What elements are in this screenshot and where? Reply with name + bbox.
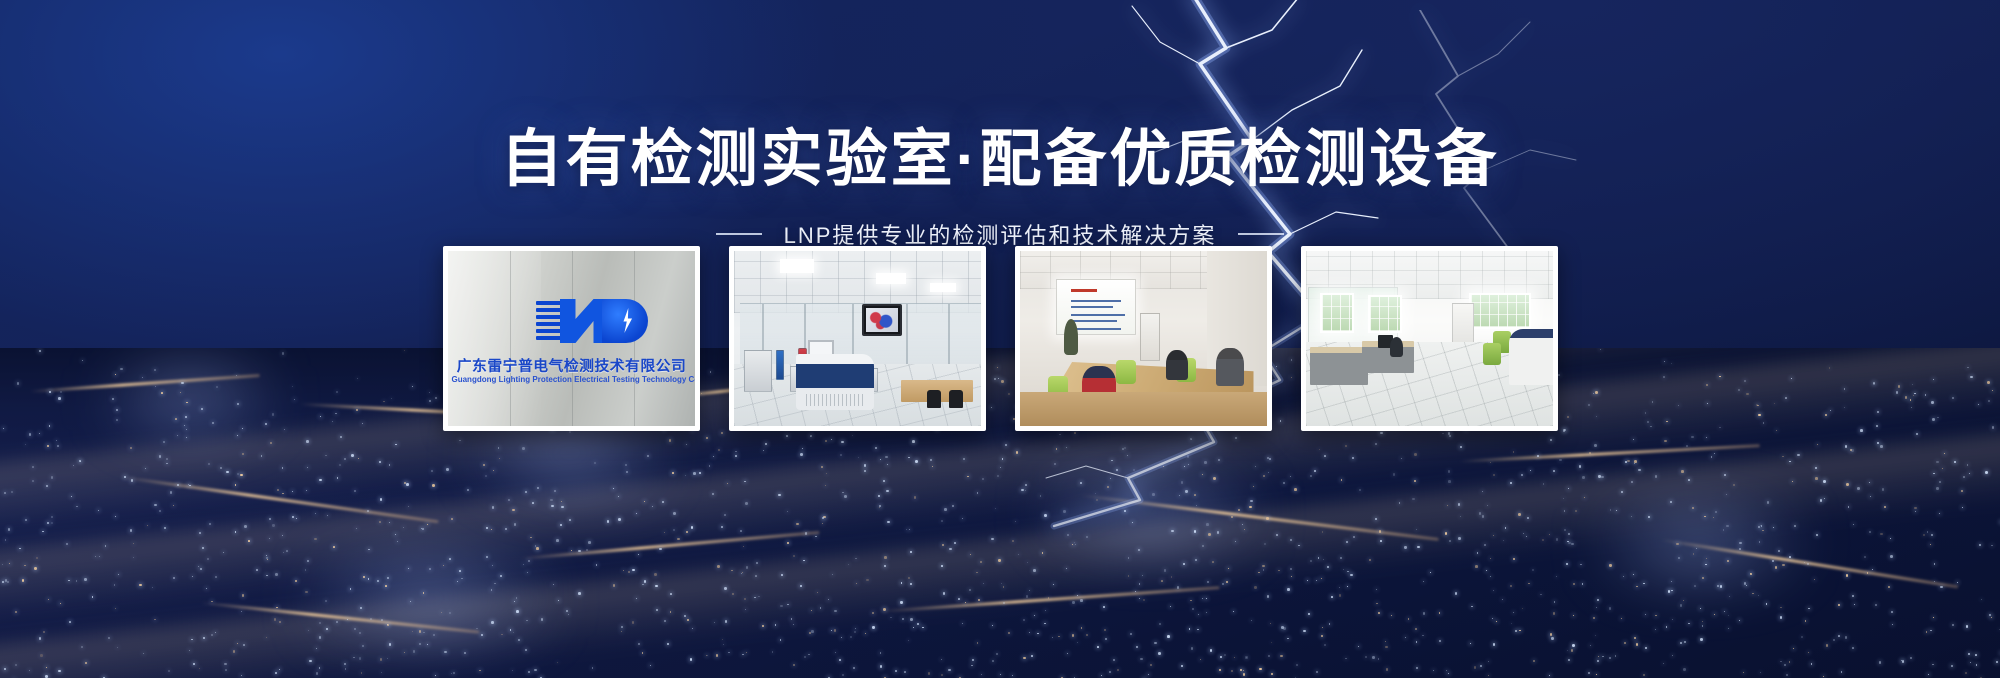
gallery-item-testing-laboratory[interactable] [729,246,986,431]
company-name-cn: 广东雷宁普电气检测技术有限公司 [455,355,687,376]
photo-gallery: 广东雷宁普电气检测技术有限公司 Guangdong Lighting Prote… [0,246,2000,431]
wall-monitor [862,304,902,336]
seated-worker [1390,337,1403,357]
company-name-en: Guangdong Lighting Protection Electrical… [452,375,691,384]
photo-company-signage: 广东雷宁普电气检测技术有限公司 Guangdong Lighting Prote… [448,251,695,426]
photo-office-area [1306,251,1553,426]
control-console [796,354,874,410]
lnp-logo-icon [536,297,648,345]
gallery-item-office-area[interactable] [1301,246,1558,431]
dash-right-icon [1238,233,1284,235]
photo-meeting-room [1020,251,1267,426]
gallery-item-company-signage[interactable]: 广东雷宁普电气检测技术有限公司 Guangdong Lighting Prote… [443,246,700,431]
gallery-item-meeting-room[interactable] [1015,246,1272,431]
dash-left-icon [716,233,762,235]
page-title: 自有检测实验室·配备优质检测设备 [0,108,2000,198]
photo-testing-laboratory [734,251,981,426]
reception-counter [1509,329,1553,385]
hero-banner: 自有检测实验室·配备优质检测设备 LNP提供专业的检测评估和技术解决方案 广东雷… [0,0,2000,678]
